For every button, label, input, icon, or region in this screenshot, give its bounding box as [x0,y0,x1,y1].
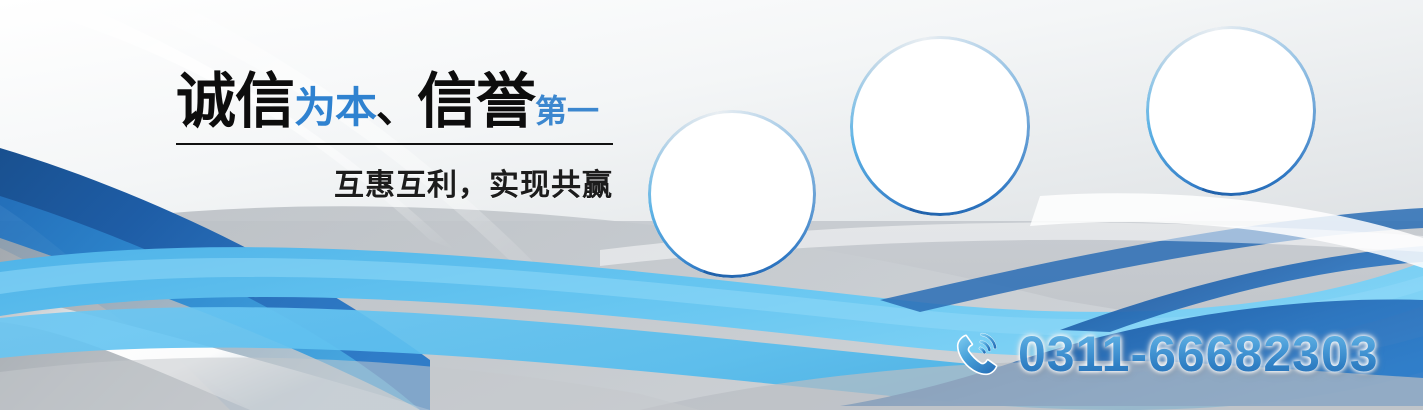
phone-call-icon [952,328,1004,380]
contact-block[interactable]: 0311-66682303 [952,325,1379,383]
product-circle-3[interactable] [1146,26,1316,196]
headline-part-2: 为本 [294,84,376,131]
headline-part-1: 诚信 [176,68,294,135]
promo-banner: 8 [0,0,1423,410]
product-image-workbench-1 [660,122,804,266]
headline-block: 诚信为本、信誉第一 [176,72,636,132]
product-circle-1[interactable] [648,110,816,278]
headline-divider [176,143,613,145]
phone-number[interactable]: 0311-66682303 [1018,325,1379,383]
workbench-illustration-1 [660,122,804,266]
headline-part-4: 信誉 [417,68,535,135]
subline: 互惠互利，实现共赢 [176,160,613,204]
headline-part-3: 、 [376,84,417,131]
product-image-workbench-3 [1158,38,1304,184]
product-image-trainer-case-2: 8 [862,48,1018,204]
headline: 诚信为本、信誉第一 [176,72,636,132]
workbench-illustration-3 [1158,38,1304,184]
trainer-case-illustration-2: 8 [862,48,1018,204]
svg-text:8: 8 [901,83,905,91]
product-circle-2[interactable]: 8 [850,36,1030,216]
headline-part-5: 第一 [535,93,599,129]
